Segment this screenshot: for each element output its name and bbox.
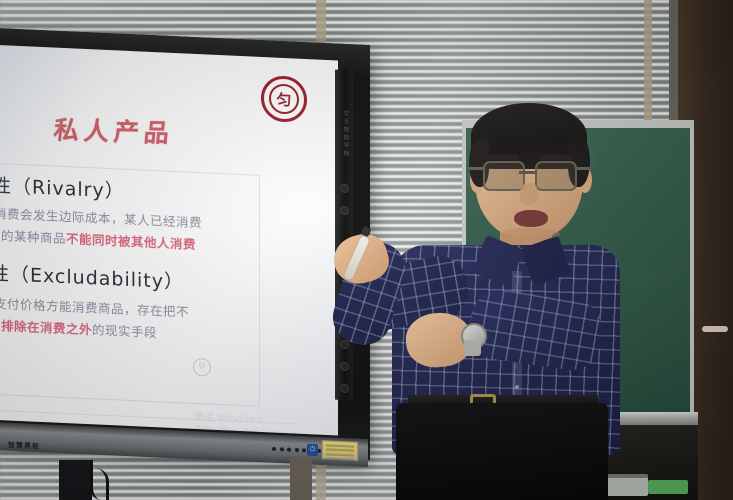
- crest-glyph: 匀: [269, 83, 299, 114]
- eyebrow-right: [539, 155, 573, 160]
- trousers: [396, 403, 608, 500]
- screenshot-scene: 匀 私人产品 竞争性（Rivalry） 多一个人消费会发生边际成本，某人已经消费…: [0, 0, 733, 500]
- university-crest-icon: 匀: [261, 75, 307, 123]
- eyeglasses-temple-right: [575, 167, 591, 170]
- body-1-prefix2: 了一定数量的某种商品: [0, 225, 66, 246]
- watch-band: [464, 340, 481, 356]
- display-button[interactable]: [295, 448, 299, 452]
- green-chalk-box[interactable]: [648, 480, 688, 494]
- body-2-highlight: 排除在消费之外: [1, 318, 92, 337]
- display-stand-column: [290, 458, 312, 500]
- display-brand-label: 智慧黑板: [8, 440, 40, 451]
- smiley-icon: ☺: [193, 358, 211, 377]
- chalk-smudge: [616, 268, 676, 288]
- mouth: [514, 210, 548, 227]
- smart-display-screen[interactable]: 匀 私人产品 竞争性（Rivalry） 多一个人消费会发生边际成本，某人已经消费…: [0, 44, 338, 436]
- display-button[interactable]: [280, 447, 284, 451]
- display-button[interactable]: [287, 448, 291, 452]
- heading-1-en: （Rivalry）: [12, 176, 125, 203]
- body-2-suffix: 的现实手段: [92, 322, 157, 340]
- display-button[interactable]: [272, 447, 276, 451]
- presentation-slide: 匀 私人产品 竞争性（Rivalry） 多一个人消费会发生边际成本，某人已经消费…: [0, 44, 338, 436]
- heading-1-cn: 竞争性: [0, 173, 12, 198]
- eyeglasses-lens-right: [535, 161, 577, 191]
- eyebrow-left: [485, 155, 519, 160]
- heading-2-cn: 排他性: [0, 261, 10, 286]
- display-stand-column: [59, 460, 92, 500]
- presenter: [330, 95, 620, 500]
- nose: [520, 183, 538, 205]
- eyeglasses-lens-left: [483, 161, 525, 191]
- shirt-button: [515, 385, 519, 389]
- slide-title: 私人产品: [52, 111, 175, 150]
- chin-shadow: [500, 228, 560, 240]
- eyeglasses-bridge: [519, 171, 537, 174]
- eyeglasses-temple-left: [469, 167, 485, 170]
- display-button[interactable]: [302, 448, 306, 452]
- teeth: [702, 326, 728, 332]
- power-button-icon[interactable]: ⏻: [307, 444, 318, 456]
